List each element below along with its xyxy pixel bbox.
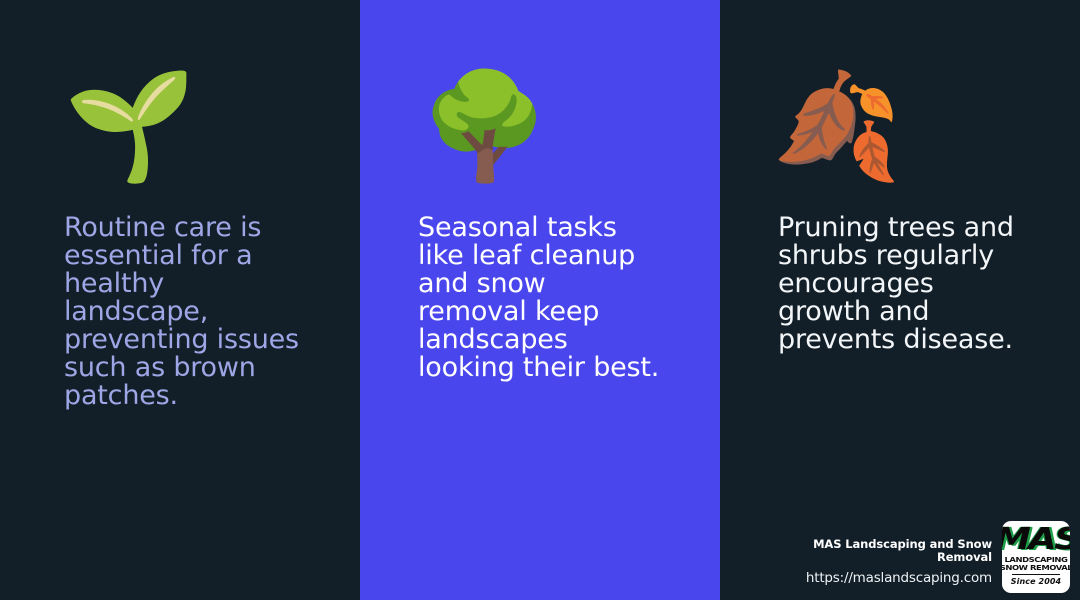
logo-subtitle-line-2: SNOW REMOVAL: [1002, 564, 1070, 572]
footer-text-block: MAS Landscaping and Snow Removal https:/…: [806, 538, 992, 593]
website-url[interactable]: https://maslandscaping.com: [806, 570, 992, 587]
infographic-canvas: 🌱 Routine care is essential for a health…: [0, 0, 1080, 600]
brand-name: MAS Landscaping and Snow Removal: [812, 538, 992, 564]
company-logo[interactable]: MAS LANDSCAPING SNOW REMOVAL Since 2004: [1002, 521, 1070, 593]
panel-seasonal-tasks-text: Seasonal tasks like leaf cleanup and sno…: [418, 214, 668, 382]
panel-seasonal-tasks: 🌳 Seasonal tasks like leaf cleanup and s…: [360, 0, 720, 600]
logo-inner: MAS LANDSCAPING SNOW REMOVAL Since 2004: [1002, 521, 1070, 593]
logo-subtitle: LANDSCAPING SNOW REMOVAL: [1002, 556, 1070, 573]
fallen-leaf-icon: 🍂: [772, 62, 904, 190]
logo-wordmark: MAS: [1002, 526, 1070, 554]
panel-pruning-trees: 🍂 Pruning trees and shrubs regularly enc…: [720, 0, 1080, 600]
footer-branding: MAS Landscaping and Snow Removal https:/…: [806, 521, 1070, 593]
deciduous-tree-icon: 🌳: [420, 62, 552, 190]
panel-pruning-trees-text: Pruning trees and shrubs regularly encou…: [778, 214, 1034, 354]
panel-routine-care-text: Routine care is essential for a healthy …: [64, 214, 310, 410]
panel-routine-care: 🌱 Routine care is essential for a health…: [0, 0, 360, 600]
logo-since-text: Since 2004: [1011, 577, 1061, 586]
logo-divider: [1012, 574, 1060, 575]
seedling-icon: 🌱: [64, 62, 196, 190]
